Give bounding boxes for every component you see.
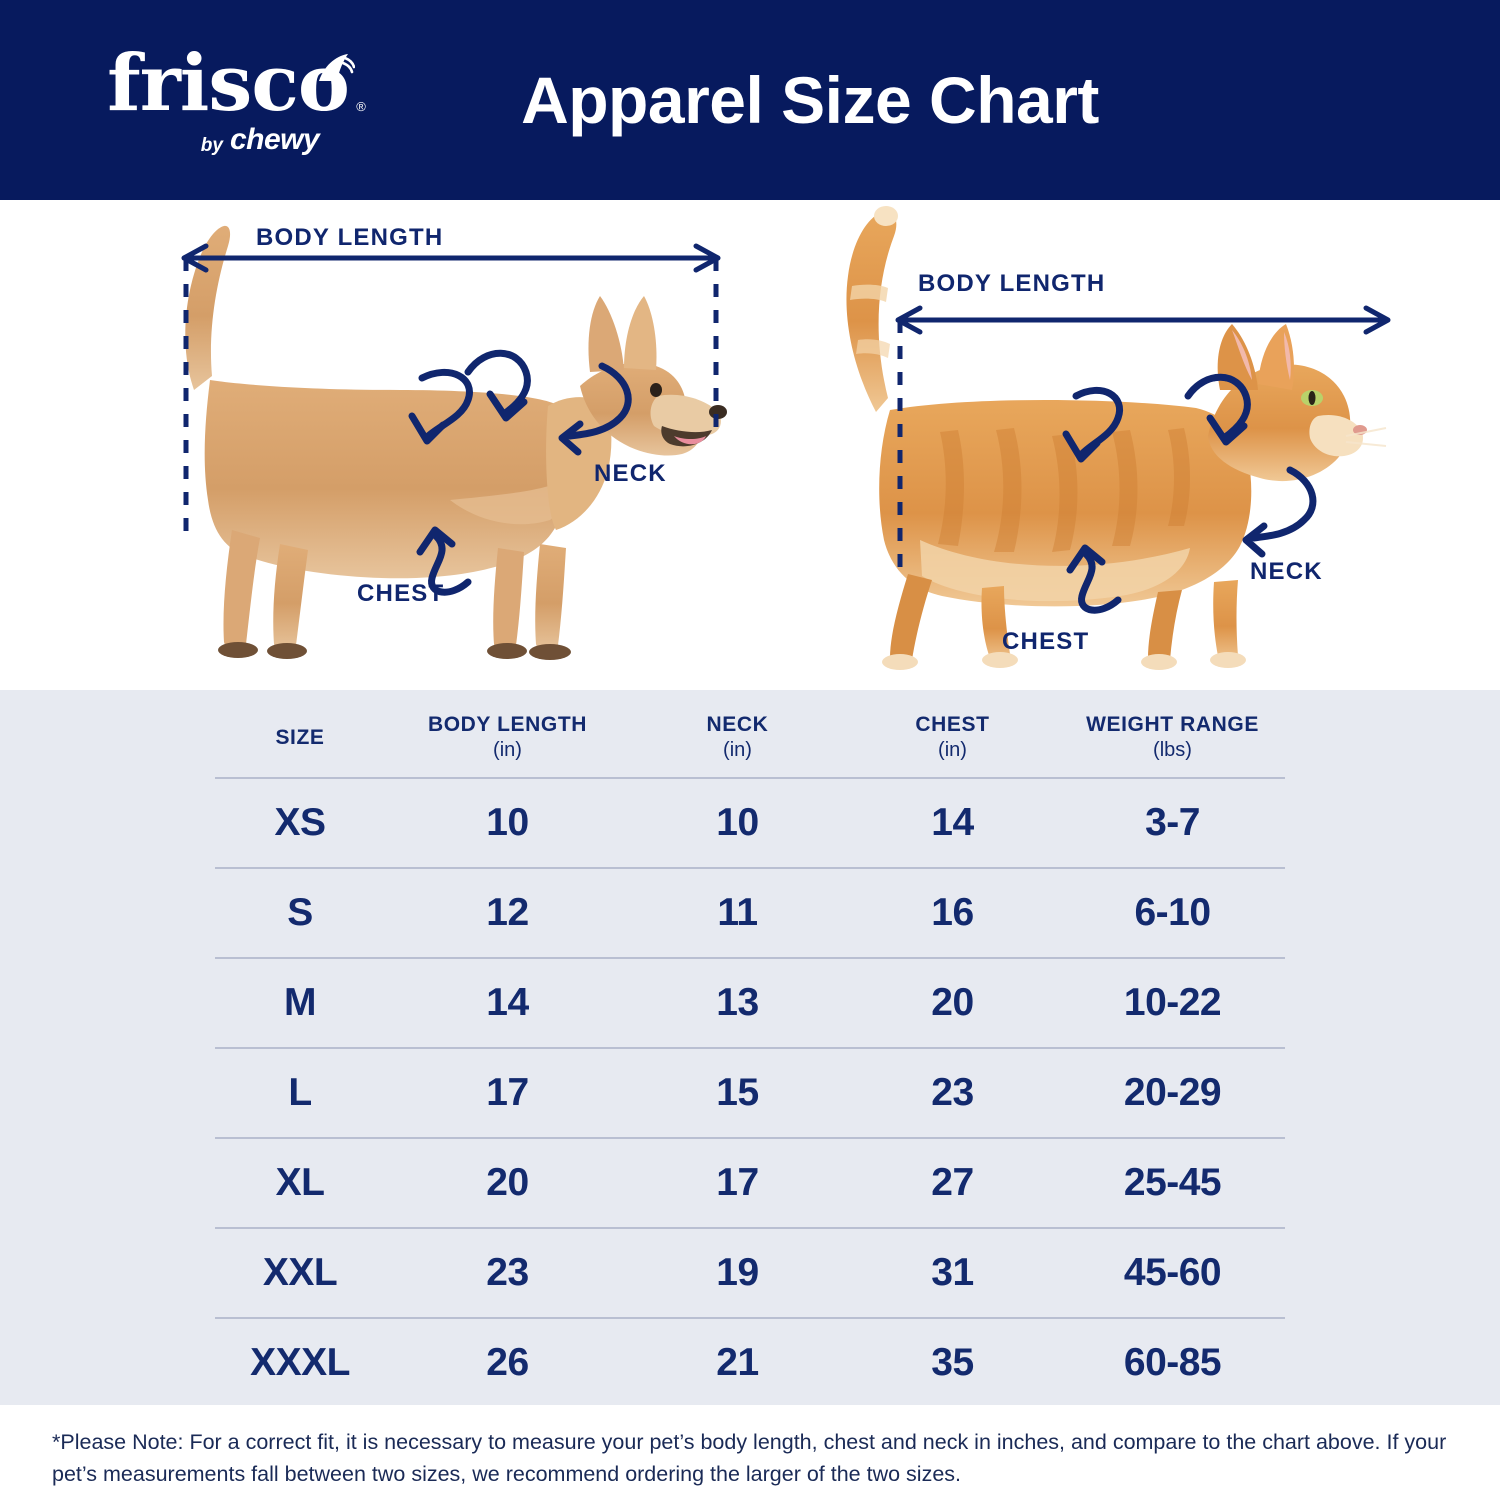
cell-weight-range: 60-85: [1060, 1318, 1285, 1408]
column-header-neck: NECK (in): [630, 690, 845, 778]
cell-neck: 17: [630, 1138, 845, 1228]
table-row: M 14 13 20 10-22: [215, 958, 1285, 1048]
table-row: S 12 11 16 6-10: [215, 868, 1285, 958]
dog-measurement-overlay-svg: [150, 200, 790, 690]
table-row: XS 10 10 14 3-7: [215, 778, 1285, 868]
cell-size: S: [215, 868, 385, 958]
cell-chest: 16: [845, 868, 1060, 958]
table-body: XS 10 10 14 3-7 S 12 11 16 6-10 M 14 13: [215, 778, 1285, 1408]
cell-neck: 10: [630, 778, 845, 868]
table-row: L 17 15 23 20-29: [215, 1048, 1285, 1138]
cell-size: XS: [215, 778, 385, 868]
cat-body-length-label: BODY LENGTH: [918, 270, 1105, 298]
cell-chest: 27: [845, 1138, 1060, 1228]
column-header-size-label: SIZE: [275, 726, 324, 749]
cell-size: XXL: [215, 1228, 385, 1318]
cell-size: XXXL: [215, 1318, 385, 1408]
cell-neck: 13: [630, 958, 845, 1048]
cat-neck-label: NECK: [1250, 558, 1323, 586]
cell-chest: 31: [845, 1228, 1060, 1318]
column-header-chest: CHEST (in): [845, 690, 1060, 778]
cell-body-length: 20: [385, 1138, 630, 1228]
table-row: XL 20 17 27 25-45: [215, 1138, 1285, 1228]
column-header-size: SIZE: [215, 690, 385, 778]
cell-body-length: 23: [385, 1228, 630, 1318]
table-row: XXXL 26 21 35 60-85: [215, 1318, 1285, 1408]
cell-weight-range: 6-10: [1060, 868, 1285, 958]
cell-weight-range: 45-60: [1060, 1228, 1285, 1318]
column-header-neck-label: NECK: [707, 713, 769, 736]
size-chart-page: frisco ® by chewy Apparel Size Chart: [0, 0, 1500, 1500]
cell-body-length: 14: [385, 958, 630, 1048]
table-row: XXL 23 19 31 45-60: [215, 1228, 1285, 1318]
cell-size: M: [215, 958, 385, 1048]
cell-weight-range: 3-7: [1060, 778, 1285, 868]
cell-neck: 11: [630, 868, 845, 958]
page-title: Apparel Size Chart: [0, 0, 1500, 200]
cell-body-length: 12: [385, 868, 630, 958]
column-header-body-length-label: BODY LENGTH: [428, 713, 587, 736]
cell-chest: 14: [845, 778, 1060, 868]
cell-chest: 35: [845, 1318, 1060, 1408]
column-header-body-length: BODY LENGTH (in): [385, 690, 630, 778]
cell-neck: 15: [630, 1048, 845, 1138]
cell-body-length: 10: [385, 778, 630, 868]
footnote: *Please Note: For a correct fit, it is n…: [0, 1405, 1500, 1500]
dog-chest-label: CHEST: [357, 580, 444, 608]
cat-illustration: BODY LENGTH NECK CHEST: [790, 200, 1430, 690]
cell-size: XL: [215, 1138, 385, 1228]
cell-weight-range: 25-45: [1060, 1138, 1285, 1228]
column-header-weight-range-label: WEIGHT RANGE: [1086, 713, 1259, 736]
cell-chest: 23: [845, 1048, 1060, 1138]
cell-body-length: 26: [385, 1318, 630, 1408]
cell-chest: 20: [845, 958, 1060, 1048]
cell-weight-range: 20-29: [1060, 1048, 1285, 1138]
column-header-neck-unit: (in): [634, 738, 841, 763]
column-header-weight-range-unit: (lbs): [1064, 738, 1281, 763]
column-header-body-length-unit: (in): [389, 738, 626, 763]
header-band: frisco ® by chewy Apparel Size Chart: [0, 0, 1500, 200]
size-table-area: SIZE BODY LENGTH (in) NECK (in) CHEST (i…: [0, 690, 1500, 1405]
cat-chest-label: CHEST: [1002, 628, 1089, 656]
cat-measurement-overlay-svg: [790, 200, 1430, 690]
column-header-chest-label: CHEST: [915, 713, 989, 736]
table-header-row: SIZE BODY LENGTH (in) NECK (in) CHEST (i…: [215, 690, 1285, 778]
dog-body-length-label: BODY LENGTH: [256, 224, 443, 252]
cell-body-length: 17: [385, 1048, 630, 1138]
cell-neck: 19: [630, 1228, 845, 1318]
illustration-area: BODY LENGTH NECK CHEST: [0, 200, 1500, 690]
dog-illustration: BODY LENGTH NECK CHEST: [150, 200, 790, 690]
cell-size: L: [215, 1048, 385, 1138]
size-chart-table: SIZE BODY LENGTH (in) NECK (in) CHEST (i…: [215, 690, 1285, 1409]
column-header-chest-unit: (in): [849, 738, 1056, 763]
column-header-weight-range: WEIGHT RANGE (lbs): [1060, 690, 1285, 778]
cell-weight-range: 10-22: [1060, 958, 1285, 1048]
cell-neck: 21: [630, 1318, 845, 1408]
dog-neck-label: NECK: [594, 460, 667, 488]
table-header: SIZE BODY LENGTH (in) NECK (in) CHEST (i…: [215, 690, 1285, 778]
